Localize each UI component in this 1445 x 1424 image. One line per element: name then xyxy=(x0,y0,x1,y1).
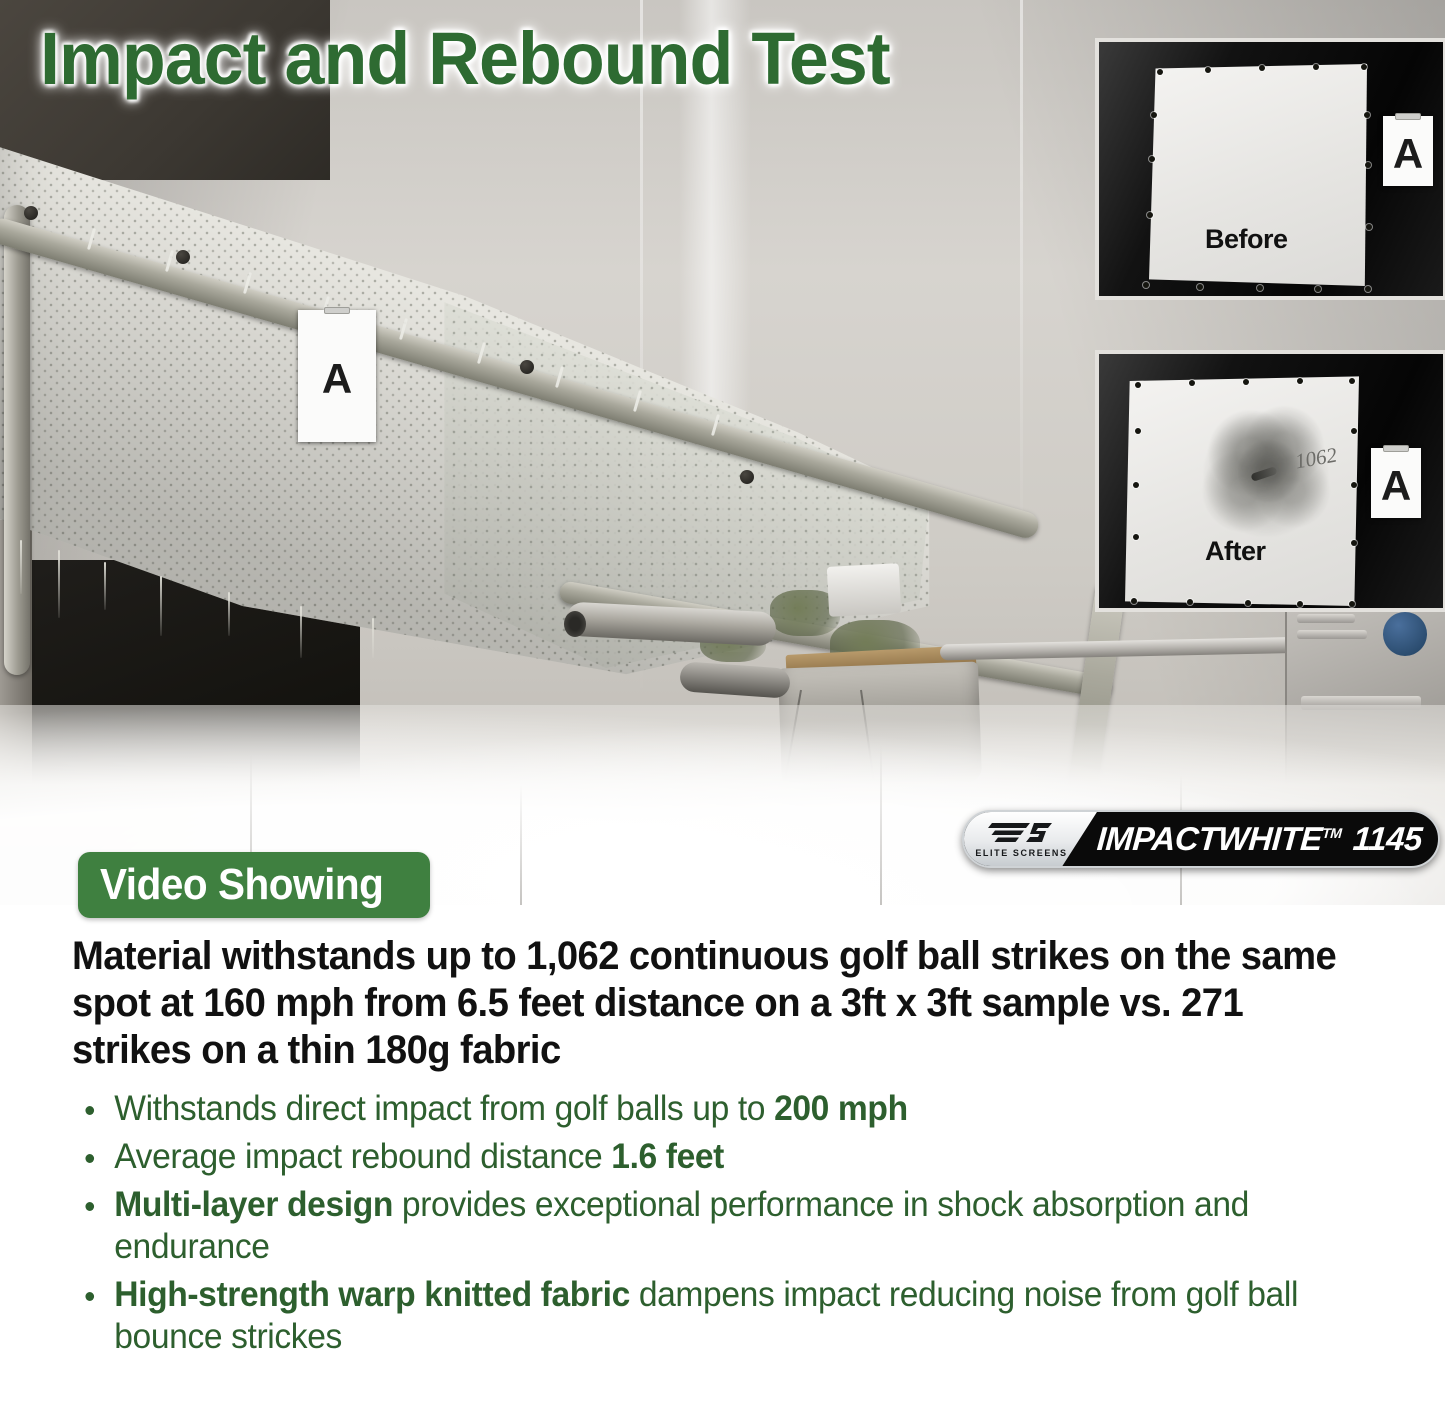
grommet xyxy=(1297,378,1303,384)
grommet xyxy=(1315,286,1321,292)
description-panel: Material withstands up to 1,062 continuo… xyxy=(0,905,1445,1424)
inset-label-card-before: A xyxy=(1383,116,1433,186)
brand-badge: ELITE SCREENS IMPACTWHITETM1145 xyxy=(962,810,1440,868)
card-clip xyxy=(1395,113,1421,120)
grommet xyxy=(1147,212,1153,218)
grommet xyxy=(1365,162,1371,168)
inset-caption-before: Before xyxy=(1205,224,1288,255)
frame-clamp xyxy=(740,470,754,484)
product-infographic: A Impact and Rebound Test xyxy=(0,0,1445,1424)
machine-bar xyxy=(1297,614,1355,623)
grommet xyxy=(1245,600,1251,606)
card-clip xyxy=(324,307,350,314)
video-showing-badge: Video Showing xyxy=(78,852,430,918)
frayed-strand xyxy=(300,606,302,658)
frayed-strand xyxy=(228,592,230,636)
video-showing-label: Video Showing xyxy=(100,863,383,907)
grommet xyxy=(1351,540,1357,546)
grommet xyxy=(1297,601,1303,607)
grommet xyxy=(1205,67,1211,73)
grommet xyxy=(1351,482,1357,488)
product-name: IMPACTWHITE xyxy=(1096,820,1323,857)
grommet xyxy=(1364,112,1370,118)
frame-post xyxy=(4,205,30,675)
list-item: Average impact rebound distance 1.6 feet xyxy=(72,1136,1346,1178)
grommet xyxy=(1157,69,1163,75)
inset-label-letter: A xyxy=(1393,133,1423,175)
grommet xyxy=(1133,482,1139,488)
brand-logo-area: ELITE SCREENS xyxy=(964,812,1097,866)
frame-clamp xyxy=(176,250,190,264)
grommet xyxy=(1259,65,1265,71)
inset-photo-after: 1062 After A xyxy=(1095,350,1445,612)
page-title: Impact and Rebound Test xyxy=(40,16,890,101)
hero-photo: A Impact and Rebound Test xyxy=(0,0,1445,905)
frayed-strand xyxy=(160,576,162,636)
brand-name-text: ELITE SCREENS xyxy=(975,848,1067,858)
inset-photo-before: Before A xyxy=(1095,38,1445,300)
grommet xyxy=(1366,224,1372,230)
grommet xyxy=(1131,598,1137,604)
frayed-strand xyxy=(104,562,106,610)
bullet-lead: Multi-layer design xyxy=(114,1185,393,1224)
grommet xyxy=(1349,378,1355,384)
grommet xyxy=(1135,382,1141,388)
feature-bullet-list: Withstands direct impact from golf balls… xyxy=(72,1088,1399,1358)
grommet xyxy=(1143,282,1149,288)
inset-label-letter: A xyxy=(1381,465,1411,507)
product-model: 1145 xyxy=(1352,820,1424,857)
grommet xyxy=(1313,64,1319,70)
bullet-text: Average impact rebound distance xyxy=(114,1137,611,1176)
backdrop-fold xyxy=(1020,0,1023,560)
sample-label-card: A xyxy=(298,310,376,442)
frame-clamp xyxy=(24,206,38,220)
grommet xyxy=(1361,64,1367,70)
grommet xyxy=(1149,156,1155,162)
grommet xyxy=(1257,285,1263,291)
machine-bar xyxy=(1297,630,1367,639)
grommet xyxy=(1189,380,1195,386)
bullet-lead: High-strength warp knitted fabric xyxy=(114,1275,630,1314)
drape-fold xyxy=(520,785,522,905)
frayed-strand xyxy=(372,618,374,658)
grommet xyxy=(1187,599,1193,605)
list-item: Multi-layer design provides exceptional … xyxy=(72,1184,1346,1268)
frame-clamp xyxy=(520,360,534,374)
brand-product-area: IMPACTWHITETM1145 xyxy=(1097,812,1438,866)
grommet xyxy=(1243,379,1249,385)
list-item: Withstands direct impact from golf balls… xyxy=(72,1088,1346,1130)
sample-label-letter: A xyxy=(322,358,352,400)
product-name-text: IMPACTWHITETM1145 xyxy=(1096,820,1424,858)
frayed-strand xyxy=(58,550,60,618)
cannon-muzzle xyxy=(564,611,586,637)
card-clip xyxy=(1383,445,1409,452)
inset-label-card-after: A xyxy=(1371,448,1421,518)
drape-fold xyxy=(880,745,882,905)
list-item: High-strength warp knitted fabric dampen… xyxy=(72,1274,1346,1358)
machine-dial xyxy=(1383,612,1427,656)
foam-block xyxy=(827,563,902,617)
bullet-text: Withstands direct impact from golf balls… xyxy=(114,1089,774,1128)
grommet xyxy=(1151,112,1157,118)
sample-panel-after: 1062 xyxy=(1125,374,1359,606)
grommet xyxy=(1349,601,1355,607)
grommet xyxy=(1351,428,1357,434)
inset-caption-after: After xyxy=(1205,536,1266,567)
impact-net-assembly xyxy=(0,110,1010,730)
trademark-symbol: TM xyxy=(1322,825,1342,841)
frayed-strand xyxy=(20,540,22,594)
grommet xyxy=(1135,428,1141,434)
grommet xyxy=(1365,286,1371,292)
lede-paragraph: Material withstands up to 1,062 continuo… xyxy=(72,933,1339,1074)
grommet xyxy=(1197,284,1203,290)
bullet-emphasis: 200 mph xyxy=(774,1089,908,1128)
grommet xyxy=(1133,534,1139,540)
elite-screens-logo-icon xyxy=(986,821,1056,847)
bullet-emphasis: 1.6 feet xyxy=(611,1137,724,1176)
